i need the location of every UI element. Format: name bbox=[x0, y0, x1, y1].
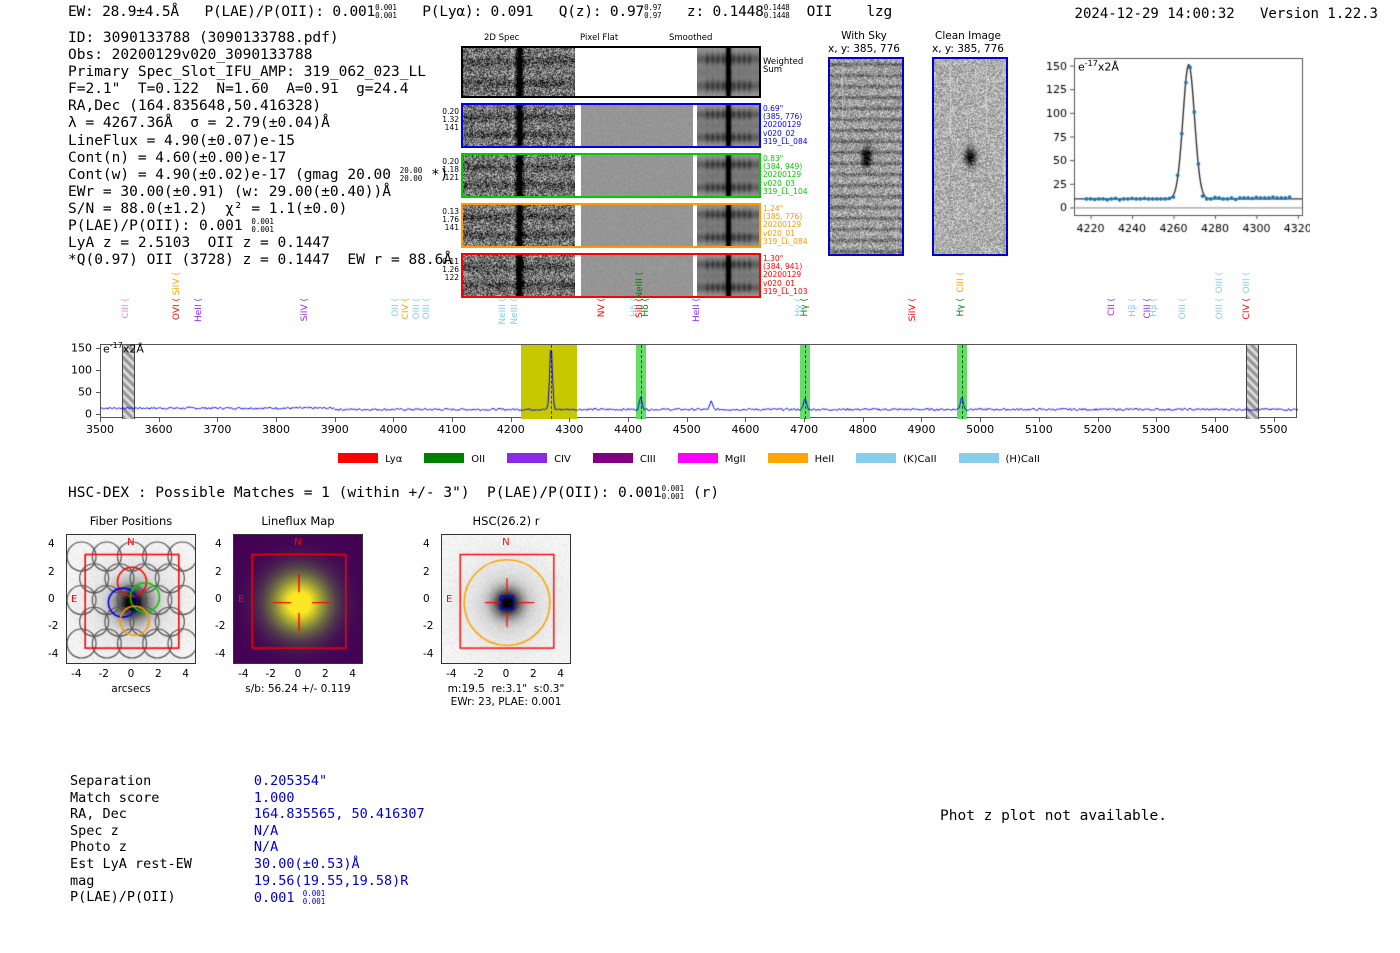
emission-line-label: Hδ ( bbox=[641, 298, 651, 317]
x-tick-label: 5300 bbox=[1142, 423, 1170, 436]
header-qz: Q(z): 0.97 bbox=[559, 4, 644, 20]
spec2d-cell-2dspec bbox=[463, 105, 575, 146]
x-tick-label: 4700 bbox=[790, 423, 818, 436]
panel-y-tick: -2 bbox=[48, 620, 58, 632]
legend-swatch bbox=[507, 453, 547, 463]
match-value: 0.205354" bbox=[254, 774, 425, 789]
panel-y-tick: 2 bbox=[423, 566, 430, 578]
legend-label: Lyα bbox=[385, 454, 402, 465]
match-key: Match score bbox=[70, 791, 252, 806]
param-line-10: S/N = 88.0(±1.2) χ² = 1.1(±0.0) bbox=[68, 201, 452, 218]
param-line-12: LyA z = 2.5103 OII z = 0.1447 bbox=[68, 235, 452, 252]
spectrum-plot-area bbox=[100, 344, 1297, 418]
x-tick-label: 5500 bbox=[1260, 423, 1288, 436]
panel-y-tick: 4 bbox=[423, 538, 430, 550]
spec2d-cell-smoothed bbox=[697, 48, 759, 96]
header-plae-range: 0.0010.001 bbox=[375, 4, 397, 20]
x-tickmark bbox=[393, 418, 394, 422]
cutout-name: With Sky bbox=[806, 30, 922, 43]
x-tick-label: 4500 bbox=[673, 423, 701, 436]
spec2d-row-meta: 0.83"(384, 949)20200129v020_03319_LL_104 bbox=[763, 155, 815, 196]
emission-line-label: OIII ( bbox=[412, 298, 422, 319]
emission-line-label: NeIII ( bbox=[510, 298, 520, 325]
x-tick-label: 3900 bbox=[321, 423, 349, 436]
panel-y-tick: -4 bbox=[215, 648, 225, 660]
header-ew: EW: 28.9±4.5Å bbox=[68, 4, 179, 20]
header-plae: P(LAE)/P(OII): 0.001 bbox=[204, 4, 375, 20]
legend-swatch bbox=[856, 453, 896, 463]
match-key: Spec z bbox=[70, 824, 252, 839]
table-row: mag19.56(19.55,19.58)R bbox=[70, 874, 425, 889]
compass-east-1: E bbox=[238, 594, 244, 605]
param-line-13: *Q(0.97) OII (3728) z = 0.1447 EW r = 88… bbox=[68, 252, 452, 269]
x-tickmark bbox=[745, 418, 746, 422]
emission-line-label: OIII ( bbox=[1215, 298, 1225, 319]
panel-y-tick: -2 bbox=[215, 620, 225, 632]
x-tick-label: 5000 bbox=[966, 423, 994, 436]
panel-title-1: Lineflux Map bbox=[199, 514, 397, 528]
x-tickmark bbox=[804, 418, 805, 422]
match-properties-table: Separation0.205354"Match score1.000RA, D… bbox=[68, 772, 427, 908]
header-z: z: 0.1448 bbox=[687, 4, 764, 20]
full-spectrum-chart: 3500360037003800390040004100420043004400… bbox=[0, 270, 1400, 470]
match-key: Est LyA rest-EW bbox=[70, 857, 252, 872]
spec2d-column-titles: 2D Spec Pixel Flat Smoothed bbox=[461, 33, 761, 46]
hsc-dex-headline: HSC-DEX : Possible Matches = 1 (within +… bbox=[68, 485, 719, 501]
emission-line-label: CII ( bbox=[1107, 298, 1117, 316]
panel-y-tick: -4 bbox=[48, 648, 58, 660]
param-line-9: EWr = 30.00(±0.91) (w: 29.00(±0.40))Å bbox=[68, 184, 452, 201]
panel-image-0 bbox=[66, 534, 196, 664]
emission-line-label: OIII ( bbox=[1215, 272, 1225, 293]
x-tick-label: 4200 bbox=[497, 423, 525, 436]
param-line-11: P(LAE)/P(OII): 0.001 0.0010.001 bbox=[68, 218, 452, 235]
x-tickmark bbox=[452, 418, 453, 422]
x-tick-label: 3800 bbox=[262, 423, 290, 436]
spec2d-row: 0.201.181210.83"(384, 949)20200129v020_0… bbox=[461, 153, 761, 198]
panel-x-tick: 4 bbox=[349, 668, 356, 680]
spec2d-title-2dspec: 2D Spec bbox=[484, 33, 519, 43]
x-tick-label: 3600 bbox=[145, 423, 173, 436]
timestamp-version: 2024-12-29 14:00:32 Version 1.22.3 bbox=[1075, 6, 1378, 22]
header-z-range: 0.14480.1448 bbox=[764, 4, 790, 20]
legend-swatch bbox=[678, 453, 718, 463]
param-line-1: Obs: 20200129v020_3090133788 bbox=[68, 47, 452, 64]
match-key: Photo z bbox=[70, 840, 252, 855]
emission-line-label: SiIV ( bbox=[908, 298, 918, 321]
emission-line-label: OIII ( bbox=[1178, 298, 1188, 319]
param-line-5: λ = 4267.36Å σ = 2.79(±0.04)Å bbox=[68, 115, 452, 132]
x-tickmark bbox=[1098, 418, 1099, 422]
panel-y-tick: 2 bbox=[215, 566, 222, 578]
spec2d-row-meta: 0.69"(385, 776)20200129v020_02319_LL_084 bbox=[763, 105, 815, 146]
table-row: Photo zN/A bbox=[70, 840, 425, 855]
match-value: N/A bbox=[254, 824, 425, 839]
table-row: Spec zN/A bbox=[70, 824, 425, 839]
table-row: Separation0.205354" bbox=[70, 774, 425, 789]
x-tick-label: 4800 bbox=[849, 423, 877, 436]
x-tickmark bbox=[687, 418, 688, 422]
y-tickmark bbox=[96, 348, 100, 349]
x-tickmark bbox=[628, 418, 629, 422]
x-tickmark bbox=[1274, 418, 1275, 422]
match-key: P(LAE)/P(OII) bbox=[70, 890, 252, 906]
param-line-7: Cont(n) = 4.60(±0.00)e-17 bbox=[68, 150, 452, 167]
spec2d-cell-smoothed bbox=[697, 155, 759, 196]
x-tickmark bbox=[1215, 418, 1216, 422]
legend-label: CIV bbox=[554, 454, 571, 465]
panel-caption-1: s/b: 56.24 +/- 0.119 bbox=[193, 683, 403, 696]
emission-line-label: NeIII ( bbox=[635, 272, 645, 299]
panel-x-tick: -2 bbox=[265, 668, 275, 680]
match-value: N/A bbox=[254, 840, 425, 855]
match-value: 0.001 0.0010.001 bbox=[254, 890, 425, 906]
table-row: Match score1.000 bbox=[70, 791, 425, 806]
x-tick-label: 3700 bbox=[203, 423, 231, 436]
spec2d-panels: 2D Spec Pixel Flat Smoothed Weighted Sum… bbox=[461, 33, 761, 298]
param-line-2: Primary Spec_Slot_IFU_AMP: 319_062_023_L… bbox=[68, 64, 452, 81]
param-line-8: Cont(w) = 4.90(±0.02)e-17 (gmag 20.00 20… bbox=[68, 167, 452, 184]
compass-north-1: N bbox=[294, 537, 301, 548]
match-value: 19.56(19.55,19.58)R bbox=[254, 874, 425, 889]
x-tick-label: 4400 bbox=[614, 423, 642, 436]
spec2d-row: 0.131.761411.24"(385, 776)20200129v020_0… bbox=[461, 203, 761, 248]
panel-x-tick: -4 bbox=[238, 668, 248, 680]
line-fit-chart: e-17x2Å bbox=[1030, 44, 1310, 249]
x-tick-label: 4100 bbox=[438, 423, 466, 436]
param-line-6: LineFlux = 4.90(±0.07)e-15 bbox=[68, 133, 452, 150]
x-tickmark bbox=[980, 418, 981, 422]
table-row: P(LAE)/P(OII)0.001 0.0010.001 bbox=[70, 890, 425, 906]
spec2d-cell-pixelflat bbox=[583, 48, 691, 96]
y-tickmark bbox=[96, 370, 100, 371]
x-tickmark bbox=[100, 418, 101, 422]
spec2d-row: Weighted Sum bbox=[461, 46, 761, 98]
emission-line-label: HeII ( bbox=[692, 298, 702, 322]
x-tickmark bbox=[1039, 418, 1040, 422]
spec2d-cell-2dspec bbox=[463, 155, 575, 196]
source-parameters: ID: 3090133788 (3090133788.pdf)Obs: 2020… bbox=[68, 30, 452, 269]
x-tick-label: 4900 bbox=[907, 423, 935, 436]
x-tick-label: 5100 bbox=[1025, 423, 1053, 436]
x-tick-label: 5200 bbox=[1084, 423, 1112, 436]
hsc-plae-range: 0.0010.001 bbox=[662, 485, 685, 501]
panel-x-tick: -4 bbox=[71, 668, 81, 680]
panel-x-tick: 4 bbox=[557, 668, 564, 680]
param-line-3: F=2.1" T=0.122 N=1.60 A=0.91 g=24.4 bbox=[68, 81, 452, 98]
cutout-title-0: With Skyx, y: 385, 776 bbox=[806, 30, 922, 55]
spectrum-units: e-17x2Å bbox=[103, 341, 144, 356]
panel-x-tick: -2 bbox=[473, 668, 483, 680]
x-tickmark bbox=[335, 418, 336, 422]
spec2d-row-stats: 0.201.18121 bbox=[419, 158, 459, 183]
cutout-image-0 bbox=[828, 57, 904, 256]
legend-swatch bbox=[959, 453, 999, 463]
emission-line-label: CIV ( bbox=[401, 298, 411, 319]
line-fit-units: e-17x2Å bbox=[1078, 59, 1119, 74]
legend-swatch bbox=[768, 453, 808, 463]
y-tickmark bbox=[96, 392, 100, 393]
match-value: 1.000 bbox=[254, 791, 425, 806]
panel-x-tick: 2 bbox=[530, 668, 537, 680]
cutout-name: Clean Image bbox=[910, 30, 1026, 43]
x-tickmark bbox=[921, 418, 922, 422]
emission-line-label: HeII ( bbox=[194, 298, 204, 322]
weighted-sum-label: Weighted Sum bbox=[763, 58, 815, 74]
timestamp: 2024-12-29 14:00:32 bbox=[1075, 6, 1235, 22]
emission-line-label: OIII ( bbox=[1242, 272, 1252, 293]
x-tickmark bbox=[569, 418, 570, 422]
panel-y-tick: -2 bbox=[423, 620, 433, 632]
param-line-0: ID: 3090133788 (3090133788.pdf) bbox=[68, 30, 452, 47]
match-value: 164.835565, 50.416307 bbox=[254, 807, 425, 822]
x-tickmark bbox=[511, 418, 512, 422]
panel-caption-2: m:19.5 re:3.1" s:0.3" EWr: 23, PLAE: 0.0… bbox=[401, 683, 611, 709]
y-tick-label: 0 bbox=[62, 407, 92, 420]
panel-x-tick: 4 bbox=[182, 668, 189, 680]
y-tickmark bbox=[96, 414, 100, 415]
spec2d-title-smoothed: Smoothed bbox=[669, 33, 712, 43]
legend-label: CIII bbox=[640, 454, 656, 465]
legend-swatch bbox=[593, 453, 633, 463]
spec2d-row-stats: 0.131.76141 bbox=[419, 208, 459, 233]
emission-line-label: NeIII ( bbox=[498, 298, 508, 325]
cutout-title-1: Clean Imagex, y: 385, 776 bbox=[910, 30, 1026, 55]
panel-y-tick: 0 bbox=[215, 593, 222, 605]
compass-east-2: E bbox=[446, 594, 452, 605]
x-tickmark bbox=[276, 418, 277, 422]
spec2d-row-stats: 0.201.32141 bbox=[419, 108, 459, 133]
header-qz-range: 0.970.97 bbox=[644, 4, 661, 20]
legend-label: (K)CaII bbox=[903, 454, 936, 465]
panel-x-tick: 0 bbox=[503, 668, 510, 680]
x-tickmark bbox=[1156, 418, 1157, 422]
spec2d-cell-smoothed bbox=[697, 105, 759, 146]
emission-line-label: CIII ( bbox=[121, 298, 131, 319]
emission-line-label: SiIV ( bbox=[300, 298, 310, 321]
spec2d-gap bbox=[575, 48, 583, 96]
table-row: Est LyA rest-EW30.00(±0.53)Å bbox=[70, 857, 425, 872]
photoz-note: Phot z plot not available. bbox=[940, 808, 1167, 824]
x-tick-label: 4300 bbox=[555, 423, 583, 436]
spectrum-legend: LyαOIICIVCIIIMgIIHeII(K)CaII(H)CaII bbox=[0, 453, 1400, 465]
header-summary: EW: 28.9±4.5Å P(LAE)/P(OII): 0.0010.0010… bbox=[68, 4, 892, 20]
panel-x-tick: 0 bbox=[295, 668, 302, 680]
panel-x-tick: -2 bbox=[98, 668, 108, 680]
line-fit-canvas bbox=[1030, 44, 1310, 249]
spectrum-trace bbox=[101, 345, 1298, 419]
panel-y-tick: 2 bbox=[48, 566, 55, 578]
spec2d-cell-2dspec bbox=[463, 205, 575, 246]
header-plya: P(Lyα): 0.091 bbox=[422, 4, 533, 20]
emission-line-label: CIV ( bbox=[1242, 298, 1252, 319]
spec2d-cell-pixelflat bbox=[581, 105, 693, 146]
x-tick-label: 3500 bbox=[86, 423, 114, 436]
cutout-coords: x, y: 385, 776 bbox=[910, 43, 1026, 56]
version-label: Version 1.22.3 bbox=[1260, 6, 1378, 22]
panel-y-tick: 4 bbox=[48, 538, 55, 550]
y-tick-label: 50 bbox=[62, 385, 92, 398]
panel-image-2 bbox=[441, 534, 571, 664]
header-flag: lzg bbox=[866, 4, 892, 20]
x-tickmark bbox=[159, 418, 160, 422]
panel-title-2: HSC(26.2) r bbox=[407, 514, 605, 528]
y-tick-label: 150 bbox=[62, 342, 92, 355]
compass-north-2: N bbox=[502, 537, 509, 548]
panel-y-tick: 0 bbox=[48, 593, 55, 605]
emission-line-label: OIII ( bbox=[422, 298, 432, 319]
spec2d-cell-smoothed bbox=[697, 205, 759, 246]
param-line-4: RA,Dec (164.835648,50.416328) bbox=[68, 98, 452, 115]
match-key: Separation bbox=[70, 774, 252, 789]
x-tick-label: 5400 bbox=[1201, 423, 1229, 436]
emission-line-label: OII ( bbox=[391, 298, 401, 317]
spec2d-cell-pixelflat bbox=[581, 155, 693, 196]
y-tick-label: 100 bbox=[62, 364, 92, 377]
emission-line-label: Hβ ( bbox=[1128, 298, 1138, 317]
emission-line-label: Hγ ( bbox=[800, 298, 810, 316]
legend-swatch bbox=[424, 453, 464, 463]
panel-y-tick: 0 bbox=[423, 593, 430, 605]
match-key: RA, Dec bbox=[70, 807, 252, 822]
panel-x-tick: 2 bbox=[155, 668, 162, 680]
spec2d-row-meta: 1.24"(385, 776)20200129v020_01319_LL_084 bbox=[763, 205, 815, 246]
panel-x-tick: 2 bbox=[322, 668, 329, 680]
spec2d-row: 0.201.321410.69"(385, 776)20200129v020_0… bbox=[461, 103, 761, 148]
cutout-image-1 bbox=[932, 57, 1008, 256]
x-tickmark bbox=[217, 418, 218, 422]
x-tickmark bbox=[863, 418, 864, 422]
x-tick-label: 4600 bbox=[731, 423, 759, 436]
legend-swatch bbox=[338, 453, 378, 463]
legend-label: (H)CaII bbox=[1006, 454, 1040, 465]
cutout-coords: x, y: 385, 776 bbox=[806, 43, 922, 56]
panel-y-tick: -4 bbox=[423, 648, 433, 660]
legend-label: MgII bbox=[725, 454, 746, 465]
emission-line-label: CIII ( bbox=[956, 272, 966, 293]
emission-line-label: SiIV ( bbox=[172, 272, 182, 295]
table-row: RA, Dec164.835565, 50.416307 bbox=[70, 807, 425, 822]
match-key: mag bbox=[70, 874, 252, 889]
emission-line-label: NV ( bbox=[597, 298, 607, 317]
panel-image-1 bbox=[233, 534, 363, 664]
panel-y-tick: 4 bbox=[215, 538, 222, 550]
hsc-dex-text: HSC-DEX : Possible Matches = 1 (within +… bbox=[68, 485, 662, 501]
emission-line-label: OVI ( bbox=[172, 298, 182, 320]
panel-x-tick: -4 bbox=[446, 668, 456, 680]
compass-north-0: N bbox=[127, 537, 134, 548]
emission-line-label: Hγ ( bbox=[956, 298, 966, 316]
spec2d-title-pixelflat: Pixel Flat bbox=[580, 33, 618, 43]
legend-label: OII bbox=[471, 454, 485, 465]
spec2d-cell-2dspec bbox=[463, 48, 575, 96]
legend-label: HeII bbox=[815, 454, 835, 465]
panel-x-tick: 0 bbox=[128, 668, 135, 680]
match-value: 30.00(±0.53)Å bbox=[254, 857, 425, 872]
x-tick-label: 4000 bbox=[379, 423, 407, 436]
emission-line-label: Hβ ( bbox=[1149, 298, 1159, 317]
header-class: OII bbox=[807, 4, 833, 20]
compass-east-0: E bbox=[71, 594, 77, 605]
spec2d-cell-pixelflat bbox=[581, 205, 693, 246]
